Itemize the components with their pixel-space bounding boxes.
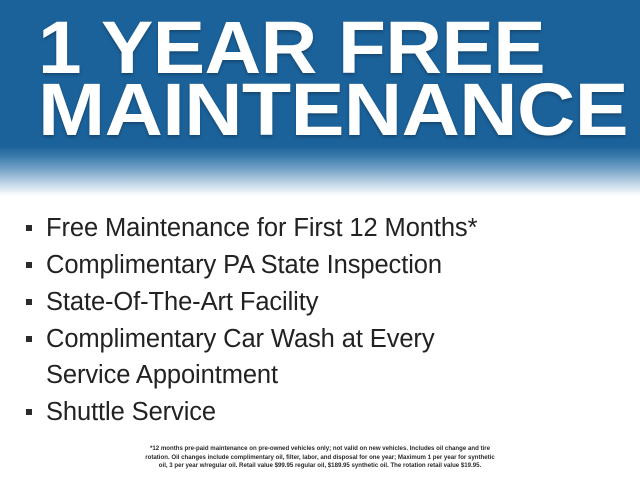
- list-item-label: Shuttle Service: [46, 394, 624, 430]
- list-item: Complimentary PA State Inspection: [18, 247, 624, 283]
- square-bullet-icon: [26, 299, 32, 305]
- promo-card: 1 YEAR FREE MAINTENANCE Free Maintenance…: [0, 0, 640, 480]
- list-item-line: Shuttle Service: [46, 398, 216, 426]
- list-item-line-continuation: Service Appointment: [46, 357, 624, 393]
- disclaimer-line-3: oil, 3 per year w/regular oil. Retail va…: [14, 462, 626, 470]
- list-item: Shuttle Service: [18, 394, 624, 430]
- list-item: Free Maintenance for First 12 Months*: [18, 210, 624, 246]
- square-bullet-icon: [26, 225, 32, 231]
- list-item-line: Free Maintenance for First 12 Months*: [46, 214, 477, 242]
- banner: 1 YEAR FREE MAINTENANCE: [0, 0, 640, 196]
- headline-line-2: MAINTENANCE: [38, 76, 640, 144]
- list-item: Complimentary Car Wash at Every Service …: [18, 321, 624, 393]
- offer-list: Free Maintenance for First 12 Months* Co…: [0, 196, 640, 445]
- list-item-line: State-Of-The-Art Facility: [46, 288, 318, 316]
- list-item-line: Complimentary PA State Inspection: [46, 251, 442, 279]
- disclaimer-line-1: *12 months pre-paid maintenance on pre-o…: [14, 445, 626, 453]
- disclaimer: *12 months pre-paid maintenance on pre-o…: [0, 445, 640, 480]
- square-bullet-icon: [26, 336, 32, 342]
- list-item-label: State-Of-The-Art Facility: [46, 284, 624, 320]
- list-item-label: Complimentary PA State Inspection: [46, 247, 624, 283]
- square-bullet-icon: [26, 409, 32, 415]
- list-item-line: Complimentary Car Wash at Every: [46, 321, 624, 357]
- banner-headline: 1 YEAR FREE MAINTENANCE: [38, 14, 622, 144]
- list-item-label: Free Maintenance for First 12 Months*: [46, 210, 624, 246]
- square-bullet-icon: [26, 262, 32, 268]
- banner-gradient-fade: [0, 146, 640, 196]
- list-item-label: Complimentary Car Wash at Every Service …: [46, 321, 624, 393]
- disclaimer-line-2: rotation. Oil changes include compliment…: [14, 454, 626, 462]
- list-item: State-Of-The-Art Facility: [18, 284, 624, 320]
